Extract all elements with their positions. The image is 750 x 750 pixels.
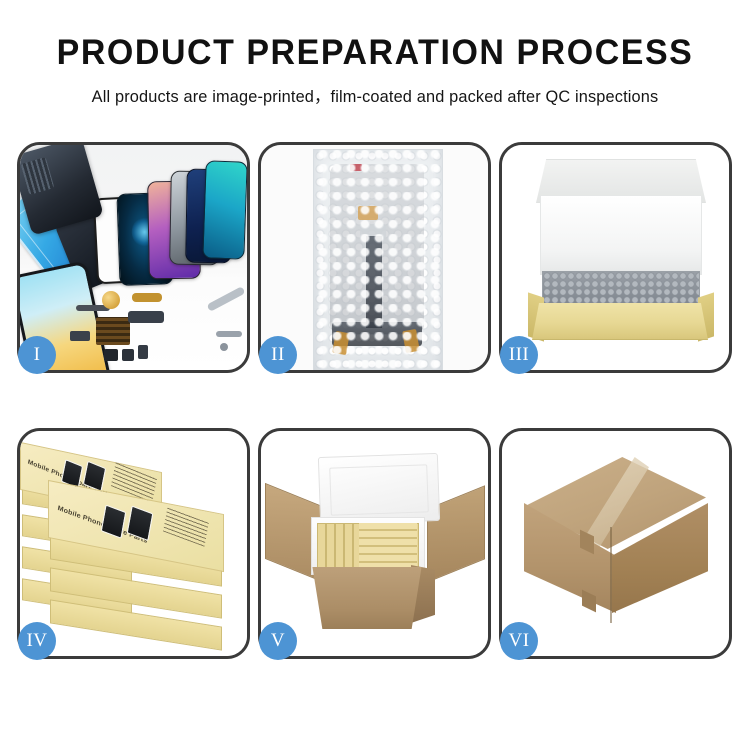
foam-sheet xyxy=(540,195,702,275)
process-step-3-image xyxy=(502,145,729,370)
step-badge-1: I xyxy=(18,336,56,374)
process-step-grid: I II xyxy=(17,142,733,659)
part-small-module-5 xyxy=(138,345,148,359)
process-step-5-image xyxy=(261,431,488,656)
part-screwdriver xyxy=(216,331,242,337)
page-header: PRODUCT PREPARATION PROCESS All products… xyxy=(0,0,750,107)
step-badge-3: III xyxy=(500,336,538,374)
process-step-1-image xyxy=(20,145,247,370)
part-connector-grid xyxy=(96,317,130,345)
yellow-box-front xyxy=(532,303,708,340)
carton-front-panel xyxy=(305,567,429,629)
bubble-wrap-texture xyxy=(314,150,442,370)
process-step-5: V xyxy=(258,428,491,659)
process-step-4-image: Mobile Phone Spare Parts Mobile Phone Sp… xyxy=(20,431,247,656)
part-flex-cable-dark xyxy=(128,311,164,323)
step-badge-6: VI xyxy=(500,622,538,660)
part-flex-cable-gold xyxy=(132,293,162,302)
step-badge-5: V xyxy=(259,622,297,660)
process-step-4: Mobile Phone Spare Parts Mobile Phone Sp… xyxy=(17,428,250,659)
carton-vertical-edge xyxy=(610,527,612,623)
step-badge-4: IV xyxy=(18,622,56,660)
bubble-wrap-bag xyxy=(313,149,443,370)
part-small-module-4 xyxy=(122,349,134,361)
process-step-2: II xyxy=(258,142,491,373)
page-title: PRODUCT PREPARATION PROCESS xyxy=(11,32,739,74)
step-badge-2: II xyxy=(259,336,297,374)
part-screw xyxy=(220,343,228,351)
part-small-module-1 xyxy=(70,331,90,341)
process-step-2-image xyxy=(261,145,488,370)
part-small-module-3 xyxy=(104,349,118,361)
part-gold-coil xyxy=(102,291,120,309)
inner-yellow-boxes-row-2 xyxy=(359,523,417,567)
process-step-3: III xyxy=(499,142,732,373)
page-subtitle: All products are image-printed，film-coat… xyxy=(4,83,747,107)
phone-teal-screen xyxy=(202,160,247,259)
process-step-6-image xyxy=(502,431,729,656)
styrofoam-lid xyxy=(318,453,440,525)
box-spec-text-block-2 xyxy=(163,507,209,547)
process-step-6: VI xyxy=(499,428,732,659)
box-stack: Mobile Phone Spare Parts Mobile Phone Sp… xyxy=(20,431,247,656)
process-step-1: I xyxy=(17,142,250,373)
